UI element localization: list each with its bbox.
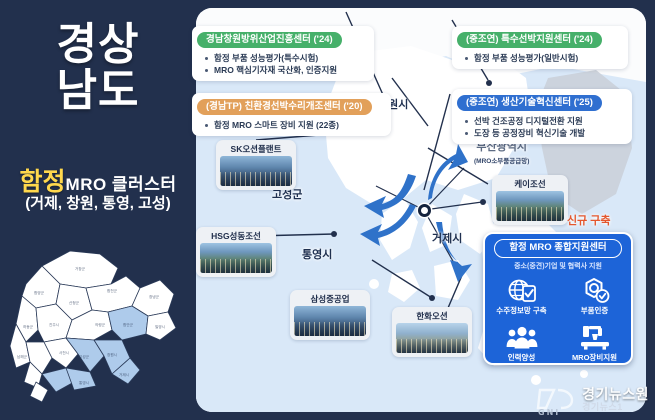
watermark-line2: 경기뉴스1 [582,401,649,414]
company-photo [496,191,564,221]
map-dot-kshipbuilding [480,199,486,205]
callout-bullet: 선박 건조공정 디지털전환 지원 [465,115,627,127]
infographic-root: 경상 남도 함정MRO 클러스터 (거제, 창원, 통영, 고성) [0,0,655,420]
support-item-workforce-training[interactable]: 인력양성 [485,322,558,366]
callout-bullet: 도장 등 공정장비 혁신기술 개발 [465,127,627,139]
svg-text:산청군: 산청군 [69,300,80,305]
company-photo [220,156,292,186]
svg-text:거제시: 거제시 [119,372,129,377]
company-card-samsung-heavy[interactable]: 삼성중공업 [290,290,370,340]
page-title-line1: 경상 [0,22,196,68]
support-center-subtitle: 중소(중견)기업 및 협력사 지원 [485,261,631,271]
support-item-parts-certification[interactable]: 부품인증 [558,275,631,322]
callout-special-ship-support[interactable]: (중조연) 특수선박지원센터 ('24) 함정 부품 성능평가(일반시험) [452,26,628,69]
svg-text:함안군: 함안군 [123,322,134,327]
watermark-text: 경기뉴스원 경기뉴스1 [582,388,649,414]
company-label: 한화오션 [396,310,468,322]
callout-bullet: 함정 부품 성능평가(특수시험) [205,52,369,64]
support-center-box[interactable]: 함정 MRO 종합지원센터 중소(중견)기업 및 협력사 지원 수주정보망 구축 [483,232,633,365]
support-item-label: 부품인증 [558,306,631,316]
callout-bullet: 함정 MRO 스마트 장비 지원 (22종) [205,119,386,131]
callout-bullet-list: 선박 건조공정 디지털전환 지원 도장 등 공정장비 혁신기술 개발 [465,115,627,139]
map-dot-tongyeong [331,231,337,237]
callout-eco-ship-repair[interactable]: (경남TP) 친환경선박수리개조센터 ('20) 함정 MRO 스마트 장비 지… [192,93,391,136]
title-panel: 경상 남도 함정MRO 클러스터 (거제, 창원, 통영, 고성) [0,0,196,420]
map-dot-samsung [429,295,435,301]
company-photo [294,306,366,336]
svg-text:합천군: 합천군 [107,288,118,293]
support-center-title: 함정 MRO 종합지원센터 [494,239,622,258]
support-center-items: 수주정보망 구축 부품인증 [485,275,631,366]
callout-badge: (경남TP) 친환경선박수리개조센터 ('20) [197,99,372,115]
watermark-line1: 경기뉴스원 [582,388,649,401]
callout-production-tech[interactable]: (중조연) 생산기술혁신센터 ('25) 선박 건조공정 디지털전환 지원 도장… [452,89,632,144]
company-photo [200,243,272,273]
hub-marker-geoje [418,204,431,217]
gear-check-icon [558,275,631,306]
svg-text:고성군: 고성군 [79,354,90,359]
support-item-label: 수주정보망 구축 [485,306,558,316]
callout-bullet-list: 함정 부품 성능평가(특수시험) MRO 핵심기자재 국산화, 인증지원 [205,52,369,76]
company-label: SK오션플랜트 [220,143,292,155]
company-card-hsg-sungdong[interactable]: HSG성동조선 [196,227,276,277]
callout-badge: (중조연) 특수선박지원센터 ('24) [457,32,602,48]
watermark: GNI 경기뉴스원 경기뉴스1 [534,386,649,416]
page-title-line2: 남도 [0,68,196,114]
subtitle-regions: (거제, 창원, 통영, 고성) [0,192,196,213]
place-geoje: 거제시 [432,230,462,246]
svg-text:진주시: 진주시 [49,322,59,327]
callout-defense-industry[interactable]: 경남창원방위산업진흥센터 ('24) 함정 부품 성능평가(특수시험) MRO … [192,26,374,81]
callout-bullet: MRO 핵심기자재 국산화, 인증지원 [205,64,369,76]
gni-logo-icon: GNI [534,386,578,416]
support-item-order-info-network[interactable]: 수주정보망 구축 [485,275,558,322]
svg-text:밀양시: 밀양시 [155,324,165,329]
svg-text:창녕군: 창녕군 [149,294,160,299]
company-label: 케이조선 [496,178,564,190]
company-card-sk-oceanplant[interactable]: SK오션플랜트 [216,140,296,190]
map-dot-special [486,80,492,86]
people-icon [485,322,558,353]
new-build-label: 신규 구축 [567,212,611,228]
svg-text:남해군: 남해군 [17,354,28,359]
svg-text:의령군: 의령군 [95,322,106,327]
callout-badge: (중조연) 생산기술혁신센터 ('25) [457,95,602,111]
svg-text:사천시: 사천시 [59,350,69,355]
place-tongyeong: 통영시 [302,246,332,262]
globe-checklist-icon [485,275,558,306]
callout-bullet-list: 함정 MRO 스마트 장비 지원 (22종) [205,119,386,131]
callout-bullet-list: 함정 부품 성능평가(일반시험) [465,52,623,64]
page-title: 경상 남도 [0,22,196,114]
support-item-label: 인력양성 [485,353,558,363]
place-busan-sublabel: (MRO소부품공급망) [474,155,529,165]
machine-icon [558,322,631,353]
callout-badge: 경남창원방위산업진흥센터 ('24) [197,32,342,48]
svg-text:창원시: 창원시 [107,352,117,357]
svg-text:함양군: 함양군 [34,290,45,295]
gni-logo-text: GNI [538,408,560,416]
company-card-hanwha-ocean[interactable]: 한화오션 [392,307,472,357]
company-card-k-shipbuilding[interactable]: 케이조선 [492,175,568,225]
support-item-mro-equipment-support[interactable]: MRO장비지원 [558,322,631,366]
svg-text:거창군: 거창군 [75,266,86,271]
reference-map: 거창군함양군 산청군합천군 창녕군하동군 진주시의령군 함안군밀양시 남해군사천… [8,232,188,412]
support-item-label: MRO장비지원 [558,353,631,363]
company-photo [396,323,468,353]
svg-text:통영시: 통영시 [79,380,89,385]
svg-text:하동군: 하동군 [23,324,34,329]
company-label: 삼성중공업 [294,293,366,305]
callout-bullet: 함정 부품 성능평가(일반시험) [465,52,623,64]
company-label: HSG성동조선 [200,230,272,242]
